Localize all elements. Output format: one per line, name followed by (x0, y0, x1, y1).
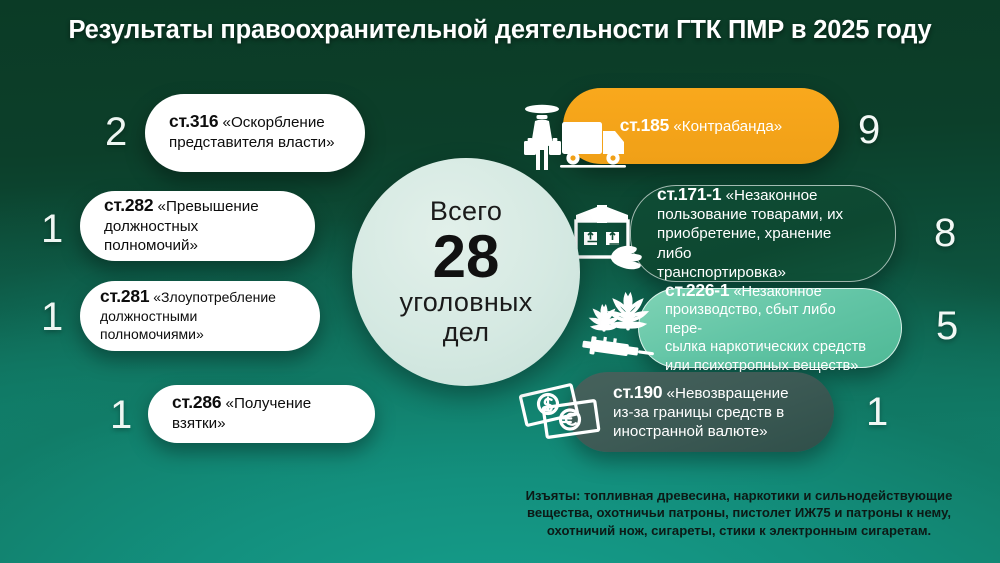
right-card-3-text: ст.190 «Невозвращение из-за границы сред… (613, 381, 789, 442)
left-card-0[interactable]: ст.316 «Оскорбление представителя власти… (145, 94, 365, 172)
left-card-0-line1: «Оскорбление (223, 114, 325, 131)
left-card-0-line2: представителя власти» (169, 134, 335, 151)
right-card-1-text: ст.171-1 «Незаконное пользование товарам… (657, 183, 869, 282)
left-card-1-article: ст.282 (104, 195, 153, 215)
right-card-1-line3: приобретение, хранение либо (657, 225, 831, 261)
seized-line-2: вещества, охотничьи патроны, пистолет ИЖ… (486, 504, 992, 521)
total-value: 28 (433, 226, 500, 287)
left-card-2-line2: должностными полномочиями» (100, 308, 204, 342)
left-count-3: 1 (110, 395, 132, 435)
left-card-3-text: ст.286 «Получение взятки» (172, 392, 353, 433)
right-count-0: 9 (858, 110, 880, 150)
right-card-2-line3: сылка наркотических средств (665, 339, 866, 355)
parcel-box-hand-icon (572, 198, 664, 270)
left-card-1-line1: «Превышение (158, 198, 259, 215)
banknotes-icon (518, 378, 610, 450)
right-card-2-line2: производство, сбыт либо пере- (665, 302, 836, 337)
left-card-2[interactable]: ст.281 «Злоупотребление должностными пол… (80, 281, 320, 351)
left-count-2: 1 (41, 297, 63, 337)
right-card-1-line1: «Незаконное (726, 187, 818, 204)
right-card-2-text: ст.226-1 «Незаконное производство, сбыт … (665, 279, 875, 376)
left-card-0-article: ст.316 (169, 111, 218, 131)
right-card-3-line1: «Невозвращение (667, 385, 789, 402)
right-card-2-line1: «Незаконное (733, 284, 821, 300)
left-card-1-line2: должностных полномочий» (104, 218, 198, 254)
right-card-3-line2: из-за границы средств в (613, 404, 784, 421)
right-card-0-line1: «Контрабанда» (673, 118, 782, 135)
cannabis-syringe-icon (582, 288, 672, 360)
total-sublabel-line1: уголовных (399, 287, 532, 317)
left-card-1-text: ст.282 «Превышение должностных полномочи… (104, 195, 293, 255)
right-card-1-line2: пользование товарами, их (657, 206, 843, 223)
seized-line-1: Изъяты: топливная древесина, наркотики и… (486, 487, 992, 504)
right-card-1-article: ст.171-1 (657, 184, 721, 204)
total-sublabel-line2: дел (443, 317, 490, 347)
left-card-1[interactable]: ст.282 «Превышение должностных полномочи… (80, 191, 315, 261)
right-card-3-line3: иностранной валюте» (613, 423, 768, 440)
left-count-1: 1 (41, 209, 63, 249)
left-count-0: 2 (105, 112, 127, 152)
total-label: Всего (430, 197, 502, 225)
page-title: Результаты правоохранительной деятельнос… (0, 16, 1000, 45)
right-card-2[interactable]: ст.226-1 «Незаконное производство, сбыт … (638, 288, 902, 368)
right-card-1[interactable]: ст.171-1 «Незаконное пользование товарам… (630, 185, 896, 282)
left-card-2-text: ст.281 «Злоупотребление должностными пол… (100, 286, 304, 343)
seized-line-3: охотничий нож, сигареты, стики к электро… (486, 522, 992, 539)
total-cases-circle: Всего 28 уголовных дел (352, 158, 580, 386)
right-count-1: 8 (934, 213, 956, 253)
left-card-2-article: ст.281 (100, 286, 149, 306)
right-count-3: 1 (866, 392, 888, 432)
right-card-2-article: ст.226-1 (665, 280, 729, 300)
right-card-3-article: ст.190 (613, 382, 662, 402)
infographic-canvas: Результаты правоохранительной деятельнос… (0, 0, 1000, 563)
left-card-3[interactable]: ст.286 «Получение взятки» (148, 385, 375, 443)
left-card-0-text: ст.316 «Оскорбление представителя власти… (169, 111, 335, 152)
right-count-2: 5 (936, 306, 958, 346)
left-card-2-line1: «Злоупотребление (153, 289, 276, 305)
total-sublabel: уголовных дел (399, 287, 532, 347)
right-card-0-text: ст.185 «Контрабанда» (620, 114, 782, 136)
left-card-3-article: ст.286 (172, 392, 221, 412)
seized-items-note: Изъяты: топливная древесина, наркотики и… (486, 487, 992, 539)
smuggler-truck-icon (518, 98, 630, 174)
